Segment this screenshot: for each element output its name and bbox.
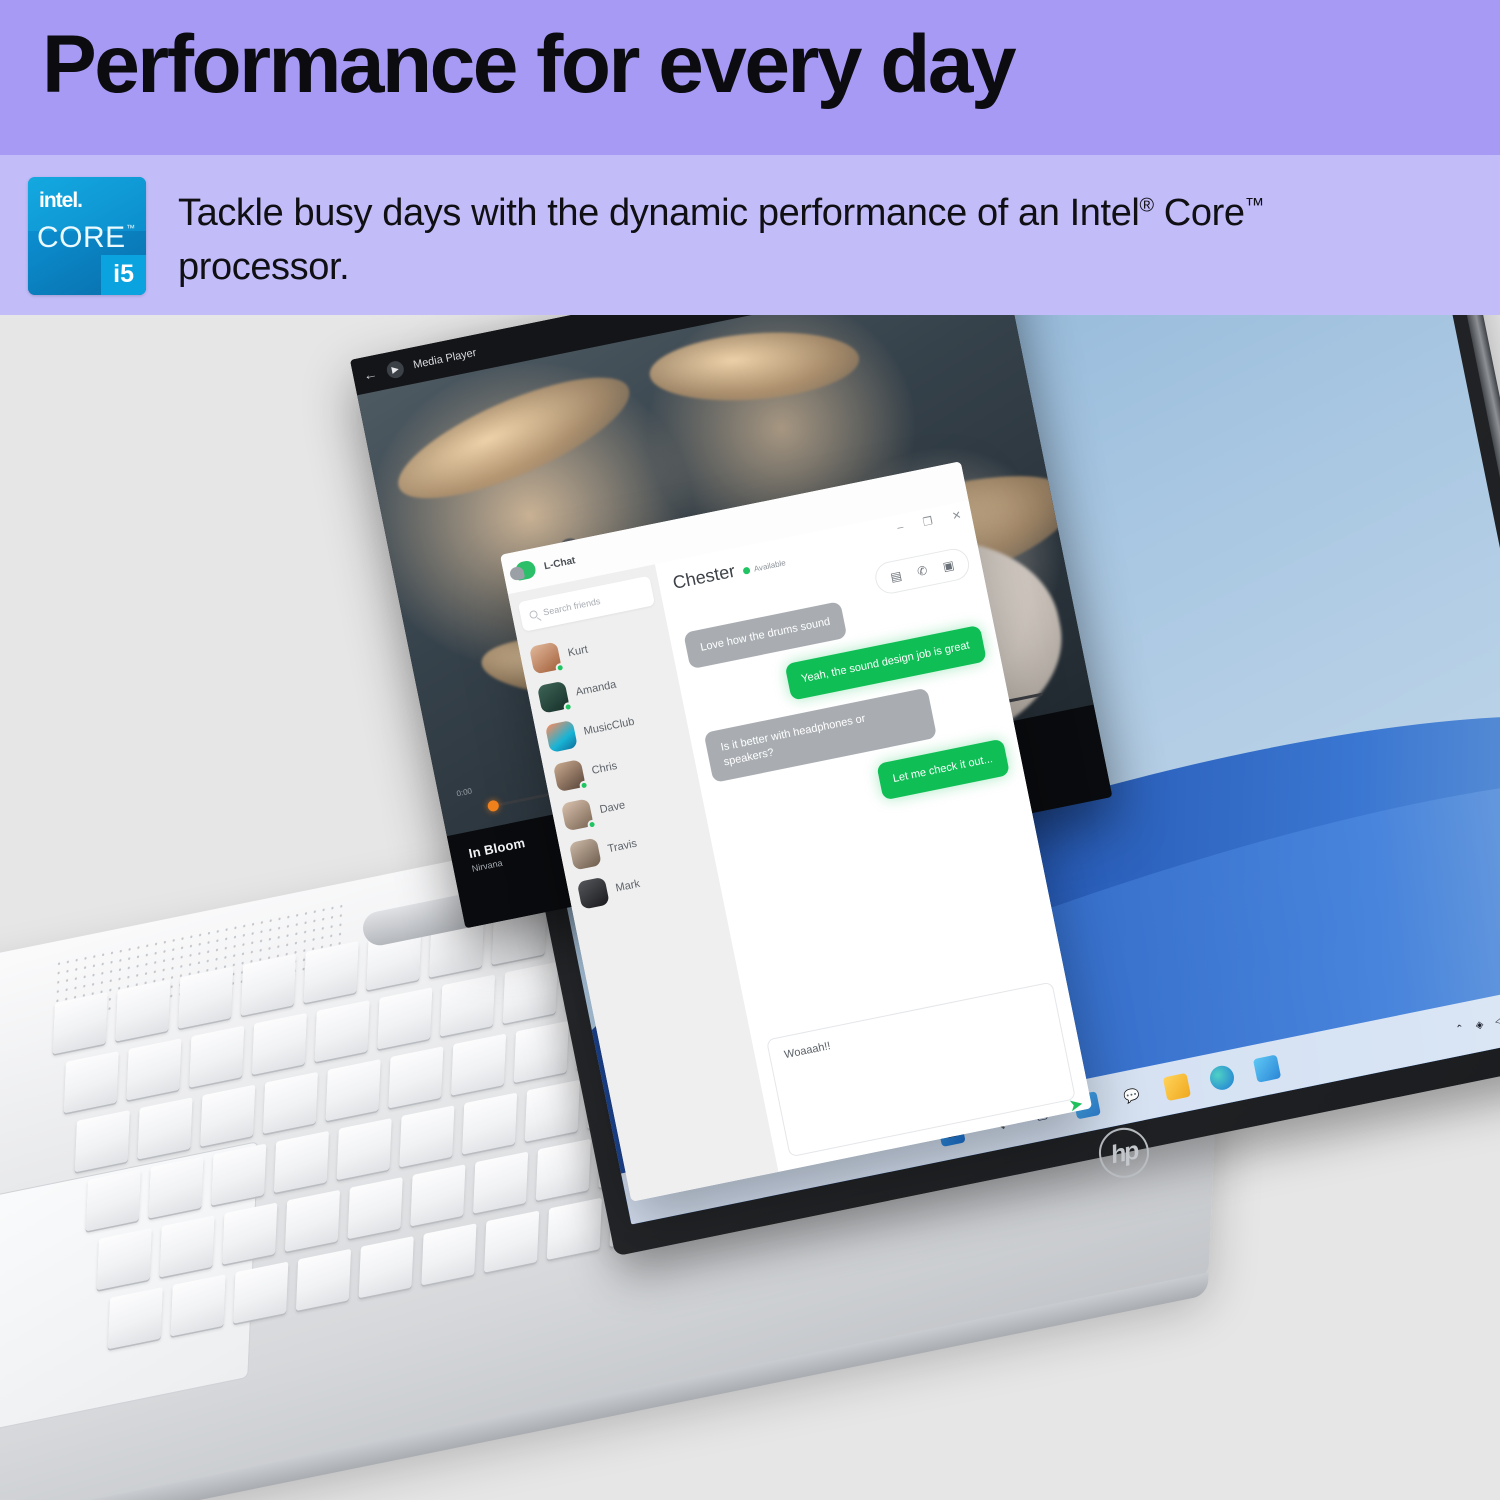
keyboard-key[interactable] — [137, 1097, 192, 1159]
tier-label: i5 — [113, 260, 134, 289]
keyboard-key[interactable] — [326, 1059, 381, 1121]
keyboard-key[interactable] — [115, 979, 170, 1041]
friend-name: Travis — [607, 838, 638, 856]
keyboard-key[interactable] — [170, 1274, 225, 1336]
keyboard-key[interactable] — [377, 987, 432, 1049]
keyboard-key[interactable] — [75, 1110, 130, 1172]
keyboard-key[interactable] — [547, 1198, 602, 1260]
keyboard-key[interactable] — [241, 954, 296, 1016]
status-badge: Available — [742, 558, 786, 575]
avatar — [529, 641, 562, 674]
subcopy-part-2: Core — [1154, 192, 1245, 234]
avatar — [577, 877, 610, 910]
promo-subcopy-band: intel. CORE ™ i5 Tackle busy days with t… — [0, 155, 1500, 315]
keyboard-key[interactable] — [64, 1051, 119, 1113]
status-label: Available — [753, 558, 786, 573]
keyboard-key[interactable] — [252, 1013, 307, 1075]
promo-subcopy: Tackle busy days with the dynamic perfor… — [178, 187, 1358, 295]
subcopy-part-1: Tackle busy days with the dynamic perfor… — [178, 192, 1139, 234]
registered-icon: ® — [1139, 194, 1153, 216]
keyboard-key[interactable] — [97, 1228, 152, 1290]
keyboard-key[interactable] — [108, 1287, 163, 1349]
keyboard-key[interactable] — [222, 1203, 277, 1265]
keyboard-key[interactable] — [462, 1092, 517, 1154]
avatar — [561, 798, 594, 831]
keyboard-key[interactable] — [233, 1262, 288, 1324]
close-button[interactable]: ✕ — [951, 508, 963, 523]
keyboard-key[interactable] — [148, 1156, 203, 1218]
keyboard-key[interactable] — [451, 1034, 506, 1096]
keyboard-key[interactable] — [421, 1223, 476, 1285]
trademark-icon: ™ — [1245, 194, 1264, 216]
online-status-dot — [587, 819, 598, 830]
minimize-button[interactable]: – — [896, 521, 904, 534]
keyboard-key[interactable] — [388, 1046, 443, 1108]
keyboard-key[interactable] — [337, 1118, 392, 1180]
keyboard-key[interactable] — [189, 1026, 244, 1088]
teams-chat-icon[interactable]: 💬 — [1118, 1082, 1146, 1110]
keyboard-key[interactable] — [274, 1131, 329, 1193]
keyboard-key[interactable] — [525, 1080, 580, 1142]
friend-name: MusicClub — [583, 716, 636, 738]
friend-name: Chris — [591, 760, 619, 777]
volume-icon[interactable]: ◁) — [1494, 1015, 1500, 1028]
edge-browser-icon[interactable] — [1208, 1064, 1236, 1092]
attach-file-icon[interactable]: ▤ — [889, 568, 903, 584]
page-title: Performance for every day — [42, 18, 1014, 112]
friend-name: Amanda — [575, 679, 618, 699]
subcopy-part-3: processor. — [178, 246, 349, 288]
keyboard-key[interactable] — [53, 992, 108, 1054]
keyboard-key[interactable] — [410, 1164, 465, 1226]
chat-bubble-icon — [514, 559, 537, 581]
keyboard-key[interactable] — [473, 1151, 528, 1213]
wifi-icon[interactable]: ◈ — [1475, 1019, 1485, 1031]
play-circle-icon: ▶ — [385, 359, 405, 379]
keyboard-key[interactable] — [503, 962, 558, 1024]
search-icon — [529, 610, 538, 619]
keyboard-key[interactable] — [296, 1249, 351, 1311]
drum-cymbal — [648, 325, 863, 407]
avatar — [545, 720, 578, 753]
friend-name: Dave — [599, 799, 627, 816]
trademark-icon: ™ — [126, 223, 135, 233]
keyboard-key[interactable] — [399, 1105, 454, 1167]
keyboard-key[interactable] — [86, 1169, 141, 1231]
keyboard-key[interactable] — [514, 1021, 569, 1083]
video-call-icon[interactable]: ▣ — [942, 558, 956, 574]
keyboard-key[interactable] — [359, 1236, 414, 1298]
keyboard-key[interactable] — [304, 941, 359, 1003]
friend-name: Mark — [615, 878, 641, 895]
keyboard-key[interactable] — [211, 1144, 266, 1206]
intel-wordmark: intel. — [39, 189, 82, 213]
avatar — [553, 759, 586, 792]
avatar — [569, 837, 602, 870]
core-wordmark: CORE — [37, 221, 126, 255]
keyboard-key[interactable] — [126, 1038, 181, 1100]
keyboard-key[interactable] — [315, 1000, 370, 1062]
file-explorer-icon[interactable] — [1163, 1073, 1191, 1101]
intel-core-i5-badge: intel. CORE ™ i5 — [28, 177, 146, 295]
media-player-title: Media Player — [412, 347, 477, 372]
keyboard-key[interactable] — [484, 1210, 539, 1272]
maximize-button[interactable]: ❐ — [922, 514, 934, 529]
promo-headline-band: Performance for every day — [0, 0, 1500, 155]
chat-app-name: L-Chat — [543, 555, 576, 572]
keyboard-key[interactable] — [159, 1215, 214, 1277]
keyboard-key[interactable] — [285, 1190, 340, 1252]
online-status-dot — [579, 780, 590, 791]
keyboard-key[interactable] — [178, 967, 233, 1029]
available-status-dot — [742, 567, 750, 575]
keyboard-key[interactable] — [263, 1072, 318, 1134]
peer-name: Chester — [671, 561, 737, 594]
microsoft-store-icon[interactable] — [1253, 1054, 1281, 1082]
keyboard-key[interactable] — [440, 975, 495, 1037]
back-arrow-icon[interactable]: ← — [362, 365, 379, 383]
phone-call-icon[interactable]: ✆ — [916, 563, 929, 579]
friend-name: Kurt — [567, 644, 589, 660]
keyboard-key[interactable] — [536, 1139, 591, 1201]
search-placeholder: Search friends — [542, 596, 601, 617]
product-photo-stage: ⊞ 🔍 ▢ 💬 ⌃ ◈ ◁) ▭ 10/20/21 11:11 AM — [0, 315, 1500, 1500]
avatar — [537, 681, 570, 714]
chevron-up-icon[interactable]: ⌃ — [1455, 1023, 1465, 1035]
message-bubble: Let me check it out... — [876, 739, 1010, 801]
message-list: Love how the drums sound Yeah, the sound… — [683, 575, 1010, 833]
keyboard-key[interactable] — [348, 1177, 403, 1239]
online-status-dot — [563, 702, 574, 713]
online-status-dot — [555, 662, 566, 673]
keyboard-key[interactable] — [200, 1085, 255, 1147]
now-playing-info: In Bloom Nirvana — [467, 835, 529, 874]
